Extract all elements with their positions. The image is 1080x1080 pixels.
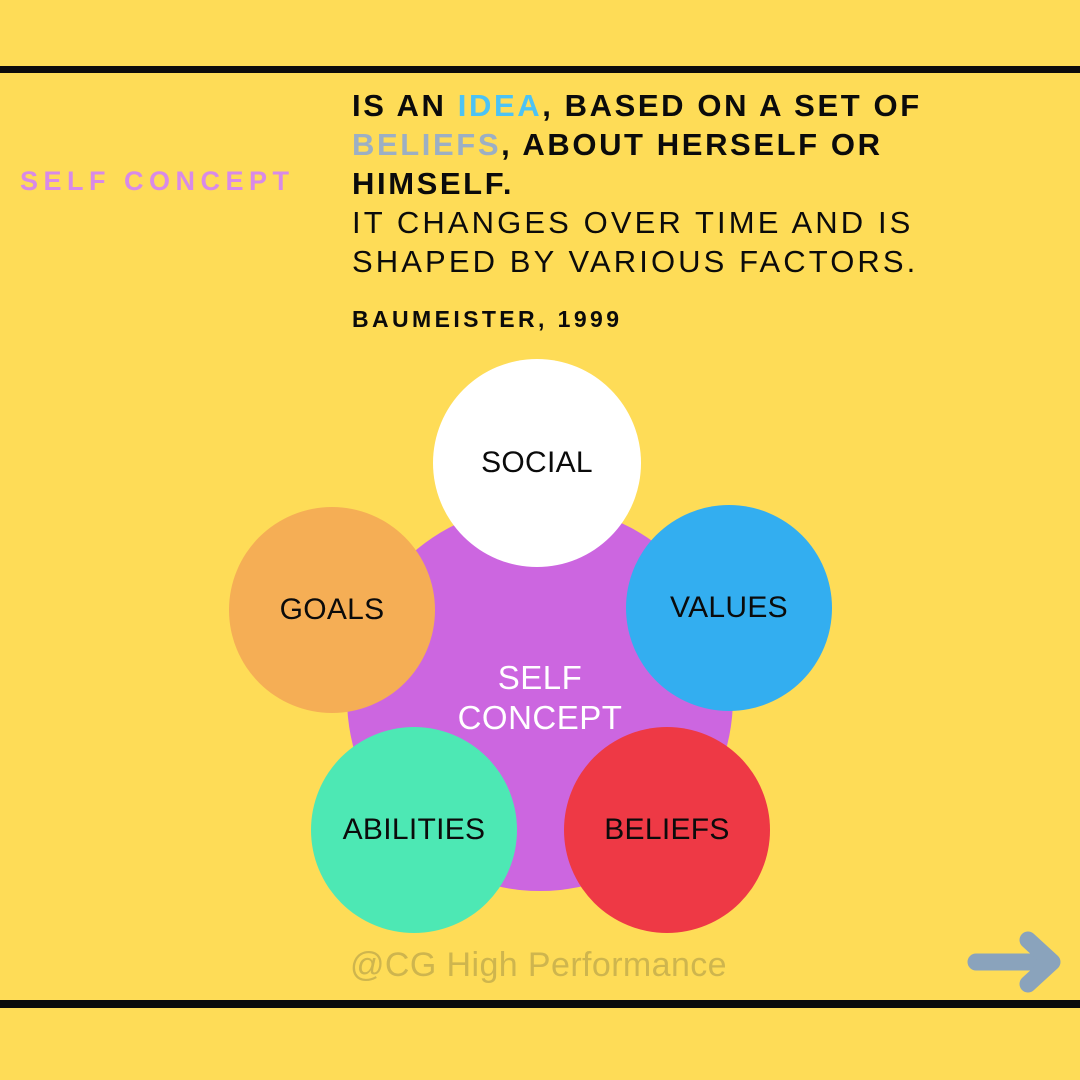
diagram-node-social-label: SOCIAL <box>481 446 593 480</box>
definition-line-1-seg-3: , BASED ON A SET OF <box>542 88 922 123</box>
diagram-core-label-line1: SELF <box>498 659 583 696</box>
highlight-beliefs: BELIEFS <box>352 127 501 162</box>
diagram-node-abilities-label: ABILITIES <box>343 813 486 847</box>
diagram-node-beliefs-label: BELIEFS <box>604 813 729 847</box>
diagram-node-social: SOCIAL <box>433 359 641 567</box>
diagram-node-goals: GOALS <box>229 507 435 713</box>
divider-top <box>0 66 1080 73</box>
diagram-node-values-label: VALUES <box>670 591 788 625</box>
definition-line-1-seg-1: IS AN <box>352 88 458 123</box>
diagram-node-goals-label: GOALS <box>280 593 385 627</box>
kicker-self-concept: SELF CONCEPT <box>20 165 350 197</box>
account-handle: @CG High Performance <box>350 946 727 985</box>
definition-text-block: IS AN IDEA, BASED ON A SET OF BELIEFS, A… <box>352 86 1052 281</box>
divider-bottom <box>0 1000 1080 1008</box>
definition-line-2-seg-2: , ABOUT HERSELF OR <box>501 127 883 162</box>
definition-line-5: SHAPED BY VARIOUS FACTORS. <box>352 242 1052 281</box>
infographic-canvas: SELF CONCEPT IS AN IDEA, BASED ON A SET … <box>0 0 1080 1080</box>
next-arrow-icon[interactable] <box>966 930 1070 994</box>
diagram-core-label: SELF CONCEPT <box>458 658 623 738</box>
highlight-idea: IDEA <box>458 88 542 123</box>
definition-line-3: HIMSELF. <box>352 164 1052 203</box>
diagram-node-beliefs: BELIEFS <box>564 727 770 933</box>
definition-line-2: BELIEFS, ABOUT HERSELF OR <box>352 125 1052 164</box>
definition-line-4: IT CHANGES OVER TIME AND IS <box>352 203 1052 242</box>
diagram-node-abilities: ABILITIES <box>311 727 517 933</box>
diagram-core-label-line2: CONCEPT <box>458 699 623 736</box>
definition-line-1: IS AN IDEA, BASED ON A SET OF <box>352 86 1052 125</box>
source-attribution: BAUMEISTER, 1999 <box>352 306 622 333</box>
self-concept-diagram: SELF CONCEPT SOCIAL VALUES BELIEFS ABILI… <box>0 340 1080 950</box>
diagram-node-values: VALUES <box>626 505 832 711</box>
